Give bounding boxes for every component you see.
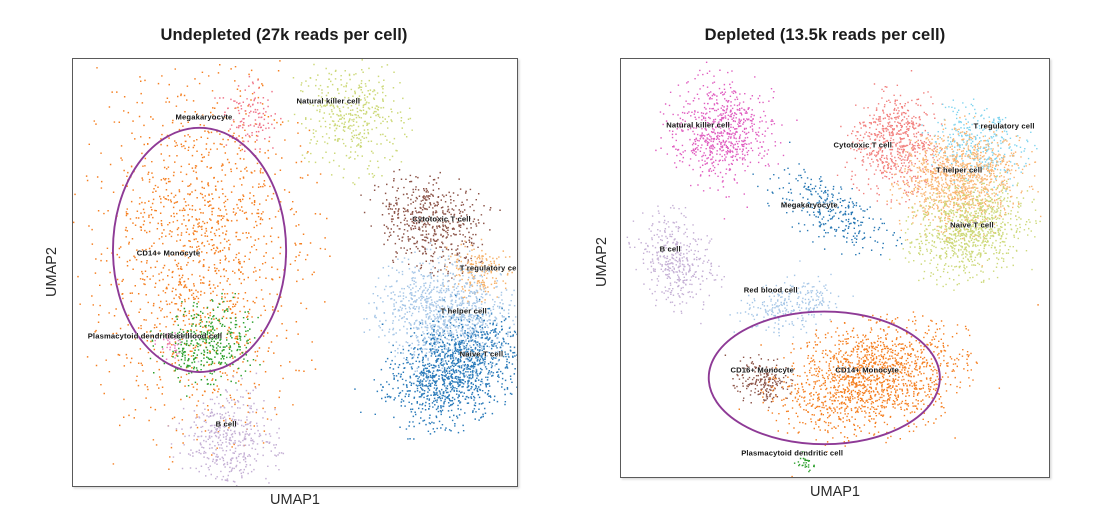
axis-label-x-depleted: UMAP1 [620, 484, 1050, 500]
cd14-monocyte-highlight [113, 128, 286, 372]
panel-title-depleted: Depleted (13.5k reads per cell) [580, 26, 1070, 45]
cluster-points [288, 59, 413, 185]
cluster-points [168, 361, 284, 486]
cluster-points [889, 153, 1049, 290]
panel-undepleted: Undepleted (27k reads per cell) CD14+ Mo… [34, 14, 534, 514]
cluster-points [360, 169, 500, 282]
axis-label-y-undepleted: UMAP2 [44, 242, 60, 302]
umap-figure: Undepleted (27k reads per cell) CD14+ Mo… [0, 0, 1100, 527]
plot-frame-undepleted: CD14+ MonocyteMegakaryocyteNatural kille… [72, 58, 518, 487]
plot-canvas-undepleted: CD14+ MonocyteMegakaryocyteNatural kille… [73, 59, 517, 486]
cluster-points [443, 239, 513, 303]
cluster-points [885, 115, 1041, 266]
cluster-points [739, 304, 1039, 477]
cluster-points [214, 76, 281, 152]
axis-label-y-depleted: UMAP2 [594, 232, 610, 292]
axis-label-x-undepleted: UMAP1 [72, 492, 518, 508]
cluster-points [729, 260, 853, 338]
panel-depleted: Depleted (13.5k reads per cell) Natural … [580, 14, 1070, 514]
scatter-points-depleted [621, 59, 1049, 477]
cluster-points [794, 451, 815, 472]
cluster-points [725, 354, 794, 408]
panel-title-undepleted: Undepleted (27k reads per cell) [34, 26, 534, 45]
cluster-points [627, 205, 725, 324]
plot-frame-depleted: Natural killer cellCytotoxic T cellT reg… [620, 58, 1050, 478]
cluster-points [73, 60, 331, 470]
plot-canvas-depleted: Natural killer cellCytotoxic T cellT reg… [621, 59, 1049, 477]
scatter-points-undepleted [73, 59, 517, 486]
cluster-points [655, 62, 797, 220]
